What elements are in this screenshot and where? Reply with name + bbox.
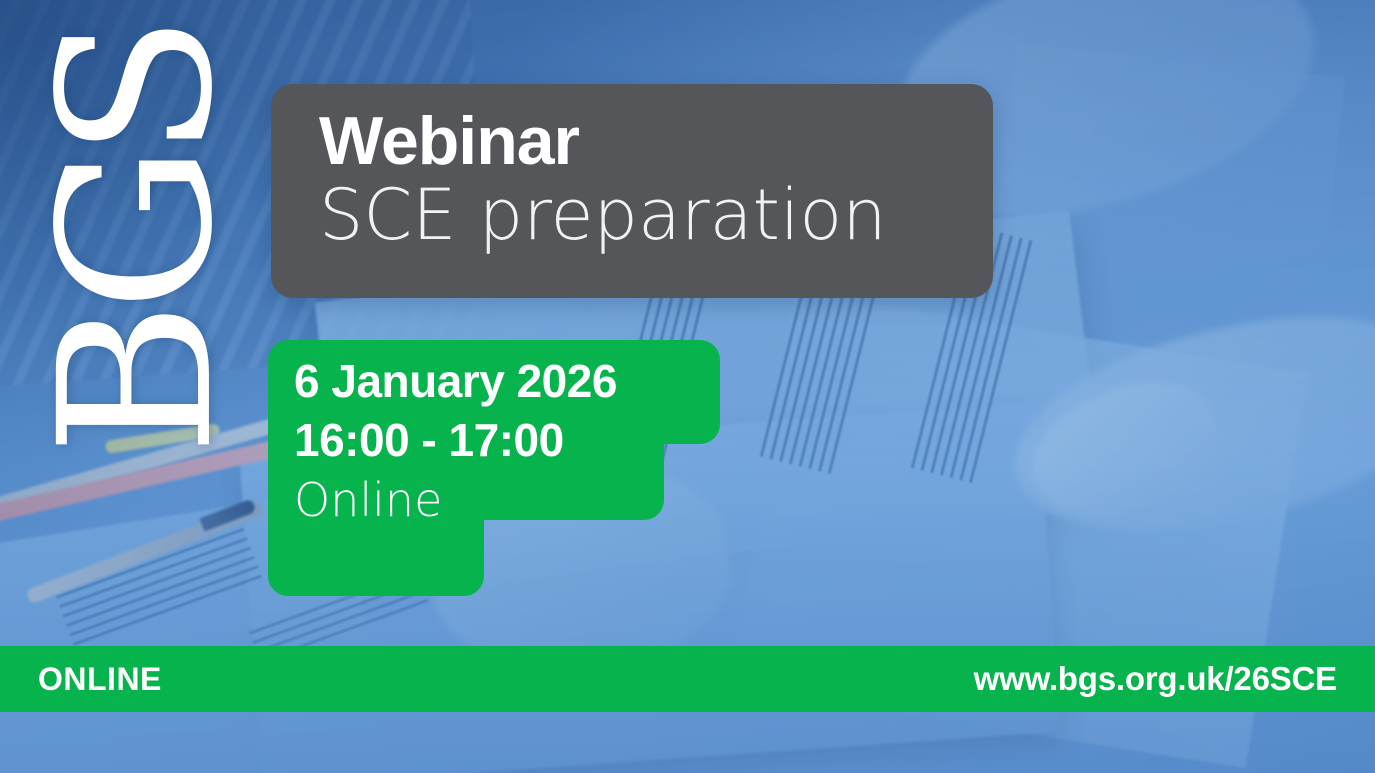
footer-format-label: ONLINE xyxy=(38,661,162,698)
footer-url[interactable]: www.bgs.org.uk/26SCE xyxy=(974,660,1337,698)
event-location: Online xyxy=(294,471,724,531)
event-type-heading: Webinar xyxy=(319,106,993,176)
event-promo-banner: BGS Webinar SCE preparation 6 January 20… xyxy=(0,0,1375,773)
footer-bar: ONLINE www.bgs.org.uk/26SCE xyxy=(0,646,1375,712)
event-title: SCE preparation xyxy=(319,176,993,254)
title-panel: Webinar SCE preparation xyxy=(271,84,993,298)
event-date: 6 January 2026 xyxy=(294,352,724,411)
event-details-panel: 6 January 2026 16:00 - 17:00 Online xyxy=(268,340,720,596)
event-details-text: 6 January 2026 16:00 - 17:00 Online xyxy=(294,352,724,530)
event-time: 16:00 - 17:00 xyxy=(294,411,724,471)
